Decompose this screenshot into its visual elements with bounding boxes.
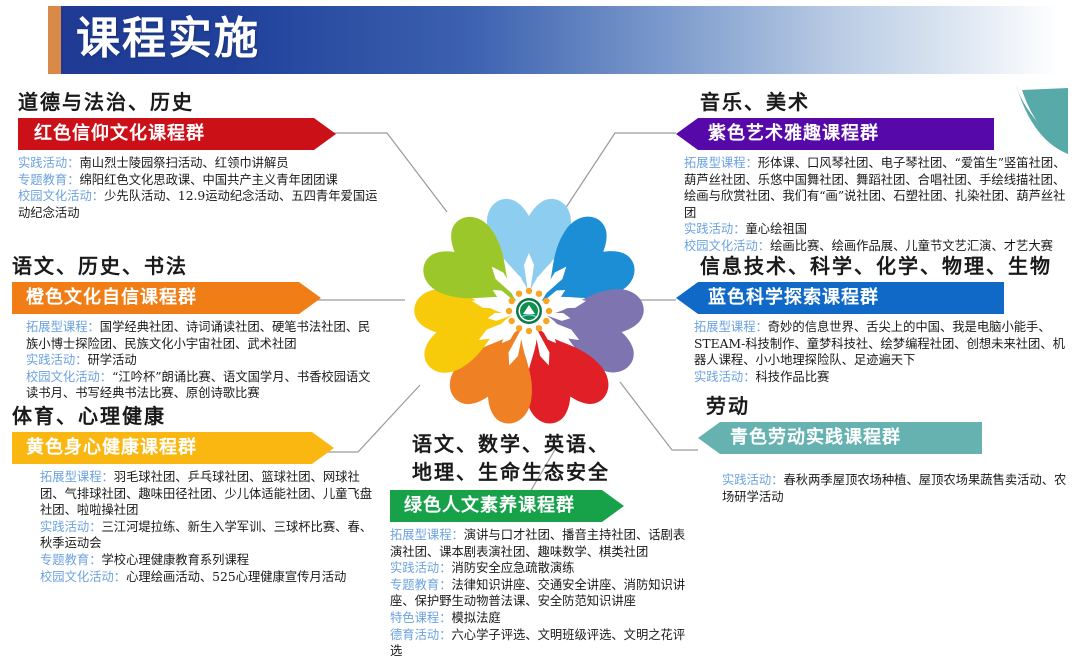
- group-blue-body: 拓展型课程：奇妙的信息世界、舌尖上的中国、我是电脑小能手、STEAM-科技制作、…: [676, 319, 1072, 385]
- group-purple-subject: 音乐、美术: [676, 88, 1072, 116]
- label-theme: 专题教育：: [18, 173, 80, 187]
- center-flower-logo: [404, 186, 654, 436]
- label-extension: 拓展型课程：: [390, 528, 464, 542]
- group-blue-banner[interactable]: 蓝色科学探索课程群: [676, 282, 1004, 314]
- text-practice: 研学活动: [88, 353, 137, 367]
- slide-canvas: 课程实施: [0, 0, 1080, 658]
- group-red: 道德与法治、历史 红色信仰文化课程群 实践活动：南山烈士陵园祭扫活动、红领巾讲解…: [18, 88, 388, 221]
- group-green-banner[interactable]: 绿色人文素养课程群: [390, 490, 624, 522]
- group-green-subject: 语文、数学、英语、 地理、生命生态安全: [390, 430, 690, 486]
- text-campus: 心理绘画活动、525心理健康宣传月活动: [126, 570, 346, 584]
- page-title: 课程实施: [76, 4, 260, 74]
- group-blue-subject: 信息技术、科学、化学、物理、生物: [676, 252, 1072, 280]
- group-green-body: 拓展型课程：演讲与口才社团、播音主持社团、话剧表演社团、课本剧表演社团、趣味数学…: [390, 527, 690, 658]
- group-purple-body: 拓展型课程：形体课、口风琴社团、电子琴社团、“爱笛生”竖笛社团、葫芦丝社团、乐悠…: [676, 155, 1072, 255]
- text-feature: 模拟法庭: [452, 611, 501, 625]
- label-extension: 拓展型课程：: [40, 470, 114, 484]
- group-yellow-body: 拓展型课程：羽毛球社团、乒乓球社团、篮球社团、网球社团、气排球社团、趣味田径社团…: [12, 469, 384, 585]
- group-teal: 劳动 青色劳动实践课程群 实践活动：春秋两季屋顶农场种植、屋顶农场果蔬售卖活动、…: [698, 392, 1070, 505]
- text-theme: 绵阳红色文化思政课、中国共产主义青年团团课: [80, 173, 338, 187]
- group-orange-body: 拓展型课程：国学经典社团、诗词诵读社团、硬笔书法社团、民族小博士探险团、民族文化…: [12, 319, 382, 402]
- group-orange: 语文、历史、书法 橙色文化自信课程群 拓展型课程：国学经典社团、诗词诵读社团、硬…: [12, 252, 382, 402]
- text-practice: 科技作品比赛: [756, 370, 830, 384]
- group-orange-subject: 语文、历史、书法: [12, 252, 382, 280]
- group-teal-subject: 劳动: [698, 392, 1070, 420]
- group-purple-banner[interactable]: 紫色艺术雅趣课程群: [676, 118, 994, 150]
- text-practice: 童心绘祖国: [746, 222, 808, 236]
- label-extension: 拓展型课程：: [694, 320, 768, 334]
- group-yellow: 体育、心理健康 黄色身心健康课程群 拓展型课程：羽毛球社团、乒乓球社团、篮球社团…: [12, 402, 384, 585]
- text-practice: 消防安全应急疏散演练: [452, 561, 575, 575]
- label-practice: 实践活动：: [18, 156, 80, 170]
- header-accent-block: [48, 6, 61, 74]
- label-theme: 专题教育：: [390, 578, 452, 592]
- label-campus: 校园文化活动：: [18, 189, 104, 203]
- group-green: 语文、数学、英语、 地理、生命生态安全 绿色人文素养课程群 拓展型课程：演讲与口…: [390, 430, 690, 658]
- label-campus: 校园文化活动：: [684, 239, 770, 253]
- text-campus: 绘画比赛、绘画作品展、儿童节文艺汇演、才艺大赛: [770, 239, 1053, 253]
- label-practice: 实践活动：: [694, 370, 756, 384]
- group-orange-banner[interactable]: 橙色文化自信课程群: [12, 282, 321, 314]
- label-theme: 专题教育：: [40, 553, 102, 567]
- group-yellow-subject: 体育、心理健康: [12, 402, 384, 430]
- label-extension: 拓展型课程：: [684, 156, 758, 170]
- label-practice: 实践活动：: [684, 222, 746, 236]
- group-teal-banner[interactable]: 青色劳动实践课程群: [698, 422, 982, 454]
- group-red-banner[interactable]: 红色信仰文化课程群: [18, 118, 336, 150]
- label-practice: 实践活动：: [722, 473, 784, 487]
- label-feature: 特色课程：: [390, 611, 452, 625]
- label-campus: 校园文化活动：: [40, 570, 126, 584]
- text-practice: 南山烈士陵园祭扫活动、红领巾讲解员: [80, 156, 289, 170]
- group-red-subject: 道德与法治、历史: [18, 88, 388, 116]
- label-practice: 实践活动：: [26, 353, 88, 367]
- label-campus: 校园文化活动：: [26, 370, 112, 384]
- group-red-body: 实践活动：南山烈士陵园祭扫活动、红领巾讲解员 专题教育：绵阳红色文化思政课、中国…: [18, 155, 388, 221]
- group-yellow-banner[interactable]: 黄色身心健康课程群: [12, 432, 334, 464]
- label-practice: 实践活动：: [40, 520, 102, 534]
- label-moral: 德育活动：: [390, 628, 452, 642]
- group-teal-body: 实践活动：春秋两季屋顶农场种植、屋顶农场果蔬售卖活动、农场研学活动: [698, 472, 1070, 505]
- text-theme: 学校心理健康教育系列课程: [102, 553, 250, 567]
- label-practice: 实践活动：: [390, 561, 452, 575]
- group-purple: 音乐、美术 紫色艺术雅趣课程群 拓展型课程：形体课、口风琴社团、电子琴社团、“爱…: [676, 88, 1072, 255]
- group-blue: 信息技术、科学、化学、物理、生物 蓝色科学探索课程群 拓展型课程：奇妙的信息世界…: [676, 252, 1072, 385]
- label-extension: 拓展型课程：: [26, 320, 100, 334]
